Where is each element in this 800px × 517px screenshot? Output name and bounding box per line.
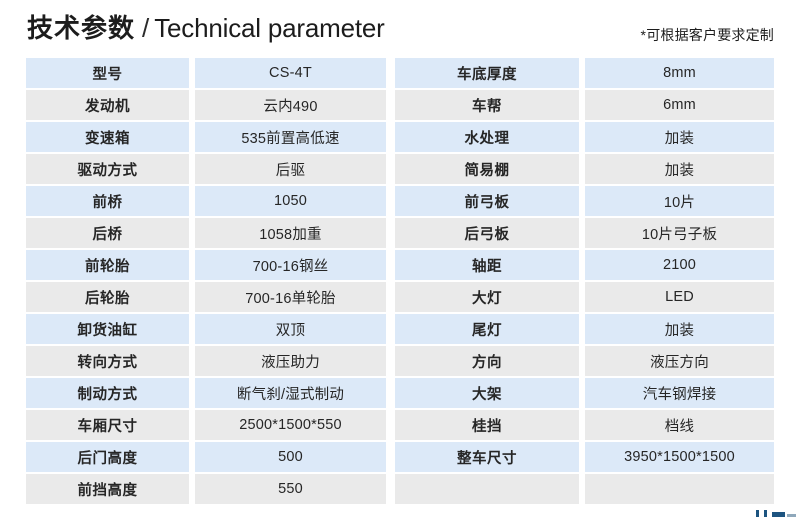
spec-table-right-body: 车底厚度8mm车帮6mm水处理加装简易棚加装前弓板10片后弓板10片弓子板轴距2…	[395, 58, 774, 506]
spec-label: 卸货油缸	[26, 314, 195, 346]
spec-value: 1058加重	[195, 218, 386, 250]
spec-label: 整车尺寸	[395, 442, 585, 474]
spec-label: 桂挡	[395, 410, 585, 442]
spec-label: 大架	[395, 378, 585, 410]
spec-label: 后轮胎	[26, 282, 195, 314]
spec-label: 型号	[26, 58, 195, 90]
spec-label	[395, 474, 585, 506]
spec-label: 车底厚度	[395, 58, 585, 90]
spec-row: 驱动方式后驱	[26, 154, 386, 186]
spec-label: 后门高度	[26, 442, 195, 474]
spec-label: 后桥	[26, 218, 195, 250]
spec-value: 加装	[585, 122, 774, 154]
spec-row: 发动机云内490	[26, 90, 386, 122]
spec-value: 535前置高低速	[195, 122, 386, 154]
spec-value: 10片	[585, 186, 774, 218]
spec-value: 550	[195, 474, 386, 506]
spec-value: 700-16单轮胎	[195, 282, 386, 314]
spec-value: 1050	[195, 186, 386, 218]
customization-note: *可根据客户要求定制	[641, 26, 774, 44]
spec-label: 制动方式	[26, 378, 195, 410]
spec-row: 型号CS-4T	[26, 58, 386, 90]
spec-row: 前桥1050	[26, 186, 386, 218]
spec-value	[585, 474, 774, 506]
spec-value: CS-4T	[195, 58, 386, 90]
spec-table-left-body: 型号CS-4T发动机云内490变速箱535前置高低速驱动方式后驱前桥1050后桥…	[26, 58, 386, 506]
spec-row: 后弓板10片弓子板	[395, 218, 774, 250]
page-title-separator: /	[142, 13, 149, 43]
spec-value: 液压方向	[585, 346, 774, 378]
spec-value: 后驱	[195, 154, 386, 186]
spec-row: 轴距2100	[395, 250, 774, 282]
spec-row: 车帮6mm	[395, 90, 774, 122]
spec-row: 整车尺寸3950*1500*1500	[395, 442, 774, 474]
spec-row: 大灯LED	[395, 282, 774, 314]
spec-row: 前弓板10片	[395, 186, 774, 218]
spec-row: 车底厚度8mm	[395, 58, 774, 90]
spec-row: 方向液压方向	[395, 346, 774, 378]
spec-value: 档线	[585, 410, 774, 442]
spec-value: 断气刹/湿式制动	[195, 378, 386, 410]
page-title: 技术参数/Technical parameter	[27, 11, 385, 45]
spec-table-right: 车底厚度8mm车帮6mm水处理加装简易棚加装前弓板10片后弓板10片弓子板轴距2…	[395, 58, 774, 506]
spec-label: 前弓板	[395, 186, 585, 218]
spec-label: 后弓板	[395, 218, 585, 250]
page-header: 技术参数/Technical parameter *可根据客户要求定制	[0, 0, 800, 58]
spec-value: LED	[585, 282, 774, 314]
spec-row: 变速箱535前置高低速	[26, 122, 386, 154]
spec-value: 6mm	[585, 90, 774, 122]
page-title-chinese: 技术参数	[27, 13, 135, 43]
spec-row: 后门高度500	[26, 442, 386, 474]
spec-row: 后轮胎700-16单轮胎	[26, 282, 386, 314]
spec-table-left: 型号CS-4T发动机云内490变速箱535前置高低速驱动方式后驱前桥1050后桥…	[26, 58, 386, 506]
spec-row: 前挡高度550	[26, 474, 386, 506]
spec-value: 加装	[585, 154, 774, 186]
spec-row	[395, 474, 774, 506]
logo-bar-3	[772, 512, 785, 517]
spec-row: 制动方式断气刹/湿式制动	[26, 378, 386, 410]
spec-value: 云内490	[195, 90, 386, 122]
spec-label: 车帮	[395, 90, 585, 122]
logo-bar-1	[756, 510, 759, 517]
spec-label: 前桥	[26, 186, 195, 218]
logo-bar-2	[764, 510, 767, 517]
spec-value: 加装	[585, 314, 774, 346]
spec-row: 水处理加装	[395, 122, 774, 154]
spec-label: 车厢尺寸	[26, 410, 195, 442]
spec-row: 卸货油缸双顶	[26, 314, 386, 346]
corner-logo-watermark	[754, 507, 798, 517]
spec-value: 2100	[585, 250, 774, 282]
spec-row: 尾灯加装	[395, 314, 774, 346]
spec-row: 简易棚加装	[395, 154, 774, 186]
spec-value: 2500*1500*550	[195, 410, 386, 442]
spec-row: 大架汽车钢焊接	[395, 378, 774, 410]
spec-value: 8mm	[585, 58, 774, 90]
spec-label: 变速箱	[26, 122, 195, 154]
spec-label: 简易棚	[395, 154, 585, 186]
spec-value: 3950*1500*1500	[585, 442, 774, 474]
spec-row: 车厢尺寸2500*1500*550	[26, 410, 386, 442]
spec-value: 汽车钢焊接	[585, 378, 774, 410]
spec-value: 液压助力	[195, 346, 386, 378]
spec-label: 轴距	[395, 250, 585, 282]
spec-label: 水处理	[395, 122, 585, 154]
spec-label: 驱动方式	[26, 154, 195, 186]
spec-label: 转向方式	[26, 346, 195, 378]
spec-label: 大灯	[395, 282, 585, 314]
spec-value: 500	[195, 442, 386, 474]
spec-label: 尾灯	[395, 314, 585, 346]
spec-label: 前挡高度	[26, 474, 195, 506]
spec-label: 前轮胎	[26, 250, 195, 282]
spec-label: 方向	[395, 346, 585, 378]
spec-row: 前轮胎700-16钢丝	[26, 250, 386, 282]
spec-value: 双顶	[195, 314, 386, 346]
page-title-english: Technical parameter	[154, 13, 384, 43]
spec-label: 发动机	[26, 90, 195, 122]
spec-row: 转向方式液压助力	[26, 346, 386, 378]
spec-row: 桂挡档线	[395, 410, 774, 442]
spec-row: 后桥1058加重	[26, 218, 386, 250]
spec-value: 700-16钢丝	[195, 250, 386, 282]
spec-value: 10片弓子板	[585, 218, 774, 250]
